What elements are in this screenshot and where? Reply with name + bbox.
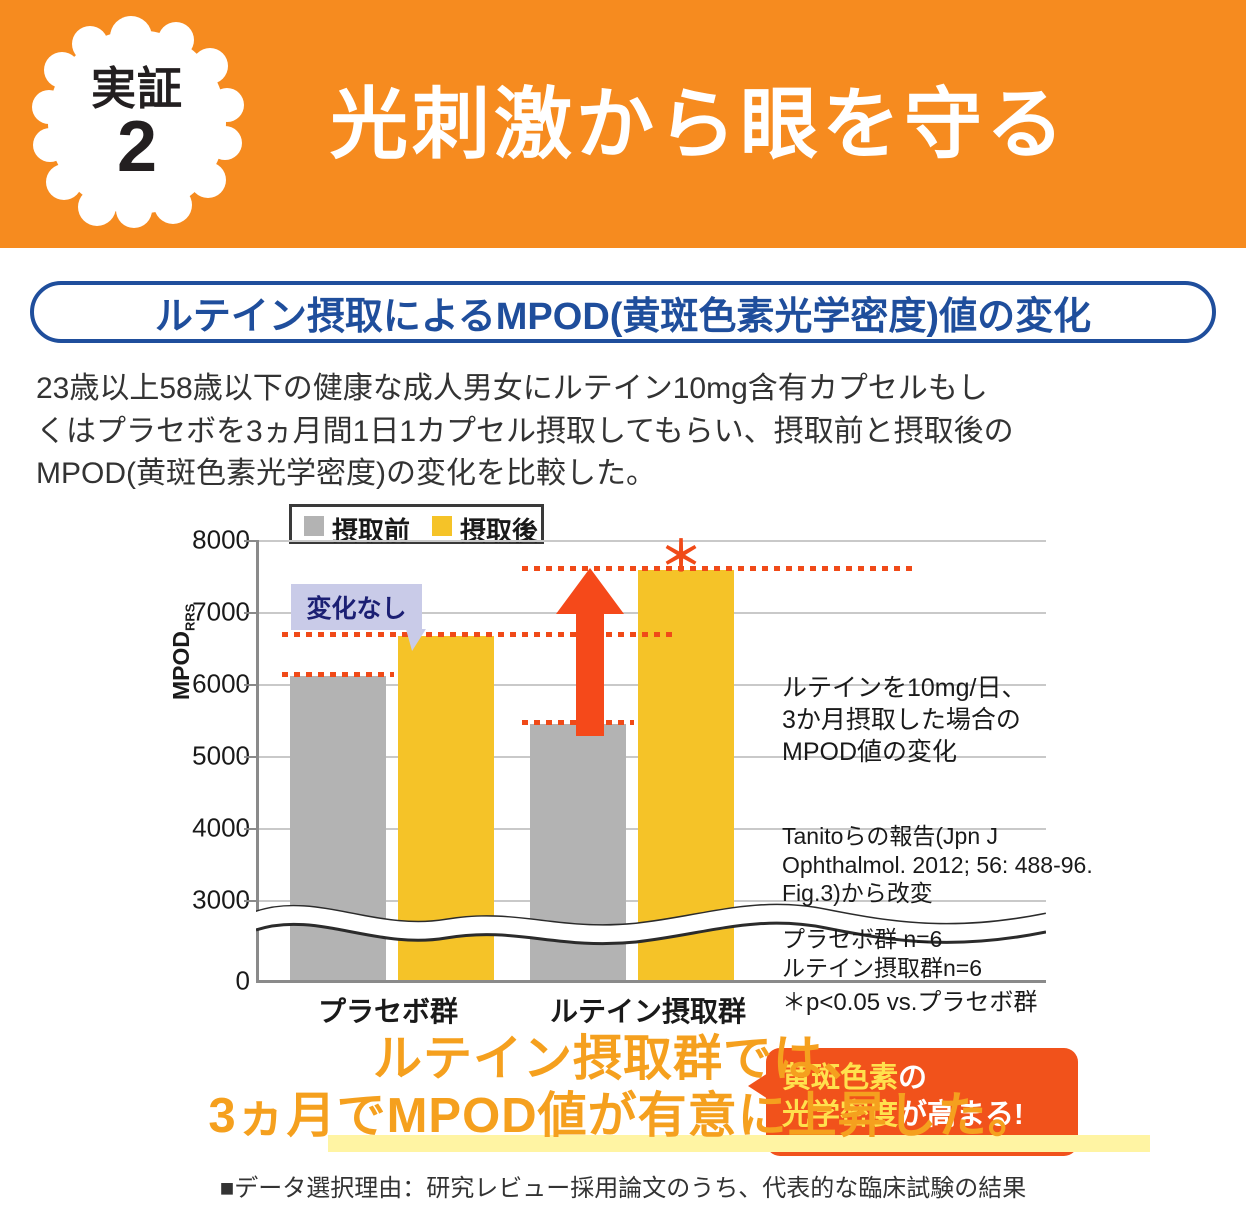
ytick-label-0: 0	[188, 966, 250, 997]
conclusion-line-2-text: 3ヵ月でMPOD値が有意に上昇した。	[208, 1089, 1037, 1143]
ytick-label-5000: 5000	[188, 741, 250, 772]
section-title-pill: ルテイン摂取によるMPOD(黄斑色素光学密度)値の変化	[30, 281, 1216, 343]
sample-size-note: プラセボ群 n=6 ルテイン摂取群n=6	[782, 925, 982, 983]
increase-arrow-icon	[554, 568, 626, 736]
ytick-label-3000: 3000	[188, 885, 250, 916]
legend-swatch-before	[304, 516, 324, 536]
header-banner: 実証 2 光刺激から眼を守る	[0, 0, 1246, 248]
ytick-label-4000: 4000	[188, 813, 250, 844]
mpod-bar-chart: 摂取前 摂取後 8000 7000 6000 5000 4000 3000 0 …	[0, 500, 1246, 1020]
ytick-label-8000: 8000	[188, 525, 250, 556]
study-description: 23歳以上58歳以下の健康な成人男女にルテイン10mg含有カプセルもし くはプラ…	[36, 368, 1221, 496]
conclusion-block: ルテイン摂取群では、 3ヵ月でMPOD値が有意に上昇した。	[0, 1032, 1246, 1144]
footer-note: ■データ選択理由：研究レビュー採用論文のうち、代表的な臨床試験の結果	[0, 1168, 1246, 1203]
y-axis-title: MPODRRS	[168, 604, 198, 700]
conclusion-line-2: 3ヵ月でMPOD値が有意に上昇した。	[0, 1089, 1246, 1144]
badge-number: 2	[117, 111, 157, 183]
chart-legend: 摂取前 摂取後	[289, 504, 544, 544]
no-change-callout: 変化なし	[291, 584, 422, 630]
gridline-8000	[258, 540, 1046, 542]
page-title: 光刺激から眼を守る	[330, 62, 1068, 174]
xcat-label-lutein: ルテイン摂取群	[508, 990, 788, 1030]
legend-label-before: 摂取前	[332, 511, 410, 548]
description-line-1: 23歳以上58歳以下の健康な成人男女にルテイン10mg含有カプセルもし	[36, 368, 1221, 411]
significance-asterisk: ＊	[660, 536, 702, 578]
xcat-label-placebo: プラセボ群	[268, 990, 508, 1030]
conclusion-line-1: ルテイン摂取群では、	[0, 1032, 1246, 1087]
badge-label: 実証	[91, 66, 183, 111]
section-title-text: ルテイン摂取によるMPOD(黄斑色素光学密度)値の変化	[34, 285, 1212, 339]
legend-label-after: 摂取後	[460, 511, 538, 548]
proof-badge: 実証 2	[32, 16, 242, 228]
method-note: ルテインを10mg/日、 3か月摂取した場合の MPOD値の変化	[782, 672, 1026, 768]
no-change-label: 変化なし	[291, 584, 422, 630]
citation-note: Tanitoらの報告(Jpn J Ophthalmol. 2012; 56: 4…	[782, 822, 1093, 908]
legend-swatch-after	[432, 516, 452, 536]
y-axis-title-main: MPOD	[168, 631, 194, 700]
level-marker-placebo-before	[282, 672, 394, 677]
y-axis-title-sub: RRS	[183, 604, 198, 631]
no-change-callout-tail	[402, 629, 426, 651]
description-line-2: くはプラセボを3ヵ月間1日1カプセル摂取してもらい、摂取前と摂取後の	[36, 411, 1221, 454]
p-value-note: ＊p<0.05 vs.プラセボ群	[782, 988, 1037, 1019]
description-line-3: MPOD(黄斑色素光学密度)の変化を比較した。	[36, 453, 1221, 496]
